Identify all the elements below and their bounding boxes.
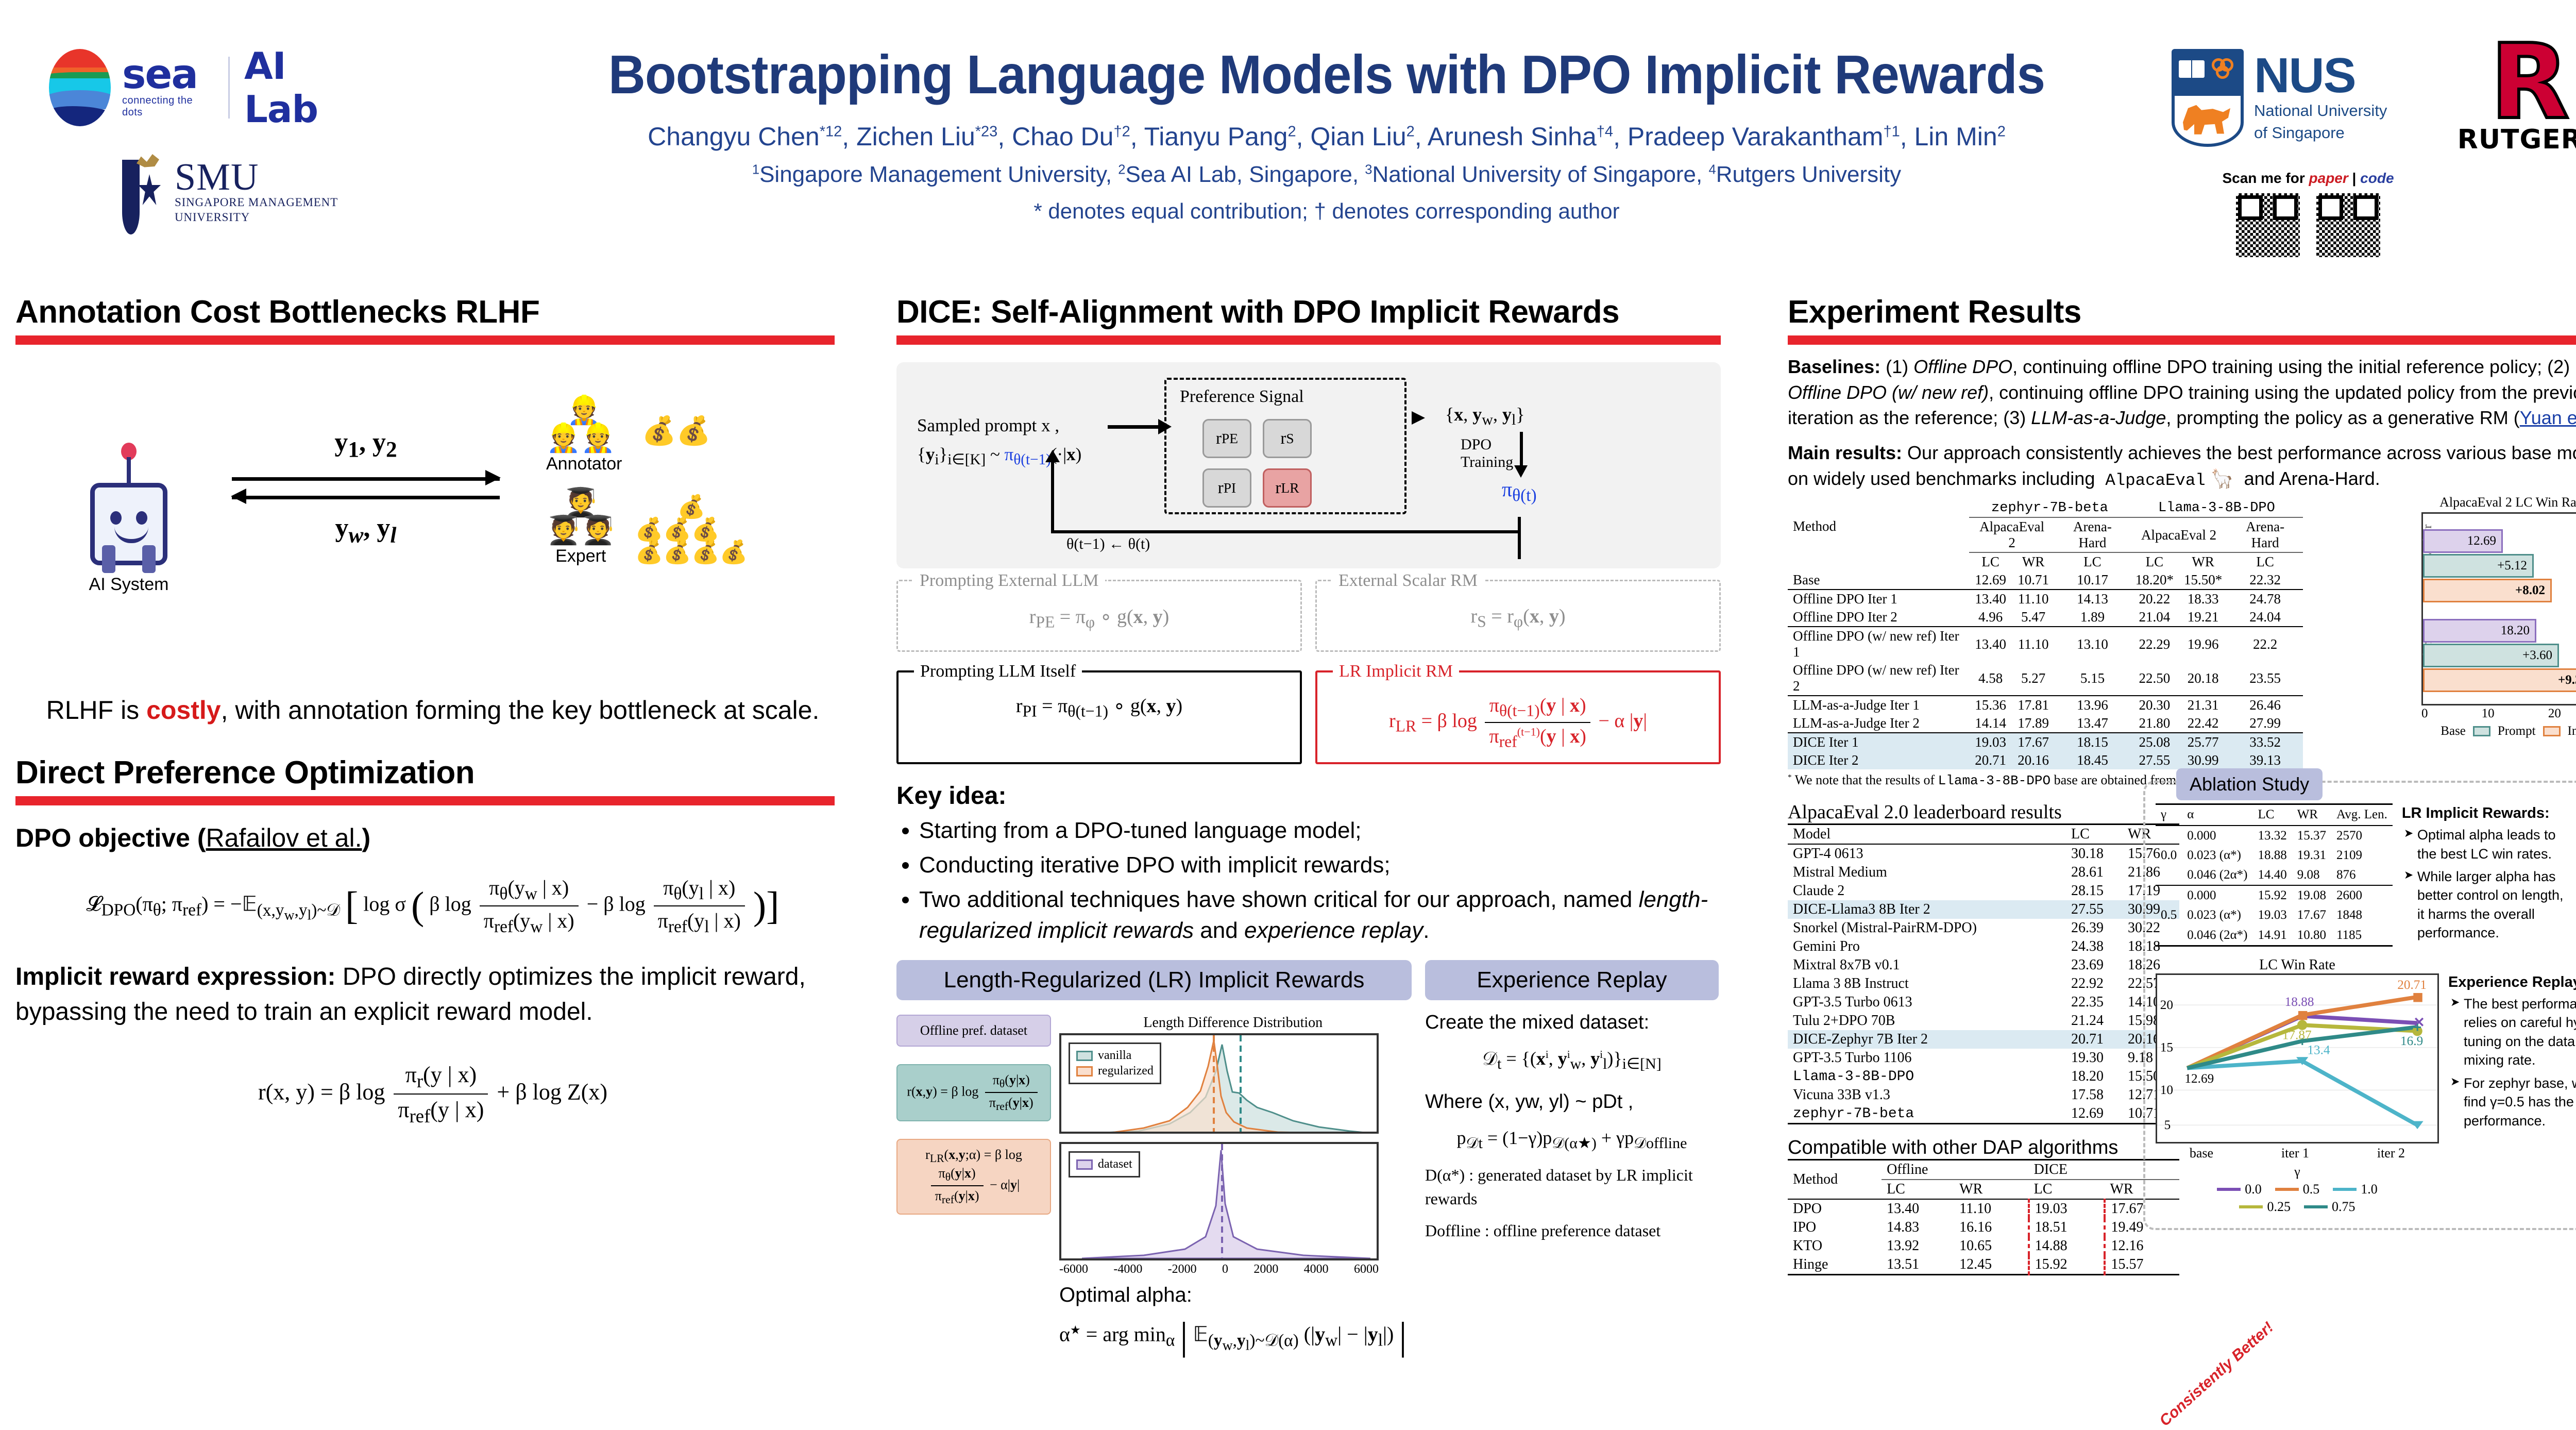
scan-me-block: Scan me for paper | code bbox=[2210, 170, 2406, 259]
cell-value: 23.55 bbox=[2227, 661, 2303, 696]
cell-model: GPT-4 0613 bbox=[1788, 844, 2066, 863]
cell-value: 22.42 bbox=[2179, 714, 2227, 733]
table-row: Offline DPO Iter 113.4011.1014.1320.2218… bbox=[1788, 590, 2303, 608]
flow-output-set: {x, yw, yl} bbox=[1445, 403, 1537, 429]
cell-value: 18.20 bbox=[2066, 1067, 2123, 1086]
table-header-row: Model LC WR bbox=[1788, 825, 2179, 845]
legend-label: 0.75 bbox=[2332, 1199, 2355, 1215]
cell-value: 21.80 bbox=[2130, 714, 2179, 733]
arrow-top-formula: y1, y2 bbox=[232, 427, 500, 462]
sea-wordmark: sea connecting the dots bbox=[122, 57, 214, 119]
cell-value: 18.51 bbox=[2029, 1218, 2105, 1237]
line-chart-x-axis: base iter 1 iter 2 bbox=[2156, 1146, 2439, 1161]
optimal-alpha-block: Optimal alpha: α★ = arg minα | 𝔼(yw,yl)~… bbox=[1059, 1284, 1407, 1359]
x-tick: 0 bbox=[1222, 1263, 1228, 1276]
section-title-dice: DICE: Self-Alignment with DPO Implicit R… bbox=[896, 296, 1721, 328]
optimal-alpha-equation: α★ = arg minα | 𝔼(yw,yl)~𝒟(α) (|yw| − |y… bbox=[1059, 1314, 1407, 1359]
qr-code-code[interactable] bbox=[2315, 192, 2382, 259]
list-item: The best performance relies on careful h… bbox=[2450, 995, 2576, 1070]
bar-llama-base: 18.20 bbox=[2423, 619, 2536, 643]
table-row: DPO13.4011.1019.0317.67 bbox=[1788, 1199, 2179, 1218]
cell-method: Offline DPO (w/ new ref) Iter 1 bbox=[1788, 627, 1969, 661]
legend-label: 0.0 bbox=[2245, 1182, 2262, 1197]
cell-method: Offline DPO Iter 1 bbox=[1788, 590, 1969, 608]
cell-lc: 14.91 bbox=[2253, 925, 2292, 946]
worker-icon: 👷 bbox=[567, 395, 601, 426]
cell-alpha: 0.000 bbox=[2182, 826, 2252, 846]
lr-implicit-rewards-header: Length-Regularized (LR) Implicit Rewards bbox=[896, 960, 1412, 1000]
money-bag-icon: 💰💰 bbox=[641, 415, 710, 446]
nus-logo: NUS National University of Singapore bbox=[2172, 49, 2387, 147]
reward-chip-pi[interactable]: rPI bbox=[1202, 468, 1251, 508]
money-bag-icon: 💰💰💰 bbox=[635, 517, 720, 542]
rutgers-name: RUTGERS bbox=[2452, 124, 2576, 155]
col-header-metric: LC bbox=[2029, 1180, 2105, 1199]
table-row: GPT-3.5 Turbo 110619.309.18 bbox=[1788, 1049, 2179, 1067]
col-header-metric: WR bbox=[2179, 552, 2227, 571]
table-row: Hinge13.5112.4515.9215.57 bbox=[1788, 1255, 2179, 1275]
arrow-left-icon bbox=[232, 494, 500, 499]
cell-value: 18.33 bbox=[2179, 590, 2227, 608]
tag-implicit-reward: r(x,y) = β log πθ(y|x)πref(y|x) bbox=[896, 1064, 1051, 1121]
table-row: Offline DPO (w/ new ref) Iter 113.4011.1… bbox=[1788, 627, 2303, 661]
cell-value: 25.08 bbox=[2130, 733, 2179, 751]
cell-value: 22.50 bbox=[2130, 661, 2179, 696]
bar-llama-prompt: +3.60 bbox=[2423, 644, 2559, 667]
cell-value: 24.78 bbox=[2227, 590, 2303, 608]
cell-value: 27.99 bbox=[2227, 714, 2303, 733]
ai-lab-wordmark: AI Lab bbox=[244, 44, 368, 131]
prompting-llm-itself-box: Prompting LLM Itself rPI = πθ(t−1) ∘ g(x… bbox=[896, 670, 1302, 764]
x-tick: 20 bbox=[2548, 706, 2561, 721]
cell-value: 27.55 bbox=[2066, 900, 2123, 919]
loop-line-h bbox=[1051, 530, 1520, 533]
svg-text:+: + bbox=[2413, 1019, 2421, 1035]
group-header-llama: Llama-3-8B-DPO bbox=[2130, 499, 2303, 517]
cell-value: 22.29 bbox=[2130, 627, 2179, 661]
cell-value: 20.30 bbox=[2130, 696, 2179, 714]
cell-value: 19.96 bbox=[2179, 627, 2227, 661]
loop-line-v bbox=[1051, 460, 1054, 533]
cell-alpha: 0.023 (α*) bbox=[2182, 846, 2252, 865]
expert-label: Expert bbox=[546, 546, 616, 566]
table-row: 0.046 (2α*)14.9110.801185 bbox=[2156, 925, 2393, 946]
col-header-len: Avg. Len. bbox=[2331, 804, 2393, 826]
cell-model: Snorkel (Mistral-PairRM-DPO) bbox=[1788, 919, 2066, 937]
x-tick: iter 2 bbox=[2377, 1146, 2405, 1161]
lr-bullets-title: LR Implicit Rewards: bbox=[2402, 803, 2572, 823]
reward-chip-s[interactable]: rS bbox=[1263, 419, 1312, 458]
svg-text:15: 15 bbox=[2160, 1040, 2173, 1054]
cell-gamma bbox=[2156, 865, 2182, 885]
lr-body: Offline pref. dataset r(x,y) = β log πθ(… bbox=[896, 1008, 1412, 1359]
annotator-label: Annotator bbox=[546, 454, 622, 474]
cell-method: LLM-as-a-Judge Iter 2 bbox=[1788, 714, 1969, 733]
preference-signal-caption: Preference Signal bbox=[1180, 387, 1304, 407]
section-rule bbox=[1788, 335, 2576, 345]
cell-value: 24.38 bbox=[2066, 937, 2123, 956]
cell-value: 5.27 bbox=[2012, 661, 2055, 696]
cell-model: DICE-Zephyr 7B Iter 2 bbox=[1788, 1030, 2066, 1049]
line-chart-title: LC Win Rate bbox=[2156, 957, 2439, 973]
note-post: , with annotation forming the key bottle… bbox=[221, 696, 820, 725]
cell-value: 18.20* bbox=[2130, 571, 2179, 590]
cell-value: 10.71 bbox=[2012, 571, 2055, 590]
cell-model: Vicuna 33B v1.3 bbox=[1788, 1086, 2066, 1104]
x-tick: 2000 bbox=[1253, 1263, 1278, 1276]
svg-text:10: 10 bbox=[2160, 1083, 2173, 1097]
length-diff-histogram: vanilla regularized bbox=[1059, 1033, 1379, 1134]
cell-value: 17.89 bbox=[2012, 714, 2055, 733]
cell-wr: 19.31 bbox=[2292, 846, 2331, 865]
scan-paper-label: paper bbox=[2309, 170, 2348, 186]
cell-value: 18.45 bbox=[2055, 751, 2130, 769]
legend-label: 1.0 bbox=[2361, 1182, 2378, 1197]
sea-oval-icon bbox=[49, 49, 111, 126]
cell-len: 1848 bbox=[2331, 905, 2393, 925]
box-equation: rLR = β log πθ(t−1)(y | x)πref(t−1)(y | … bbox=[1324, 694, 1713, 751]
lr-charts: Length Difference Distribution vanilla r… bbox=[1059, 1015, 1407, 1359]
col-header-bench: AlpacaEval 2 bbox=[1969, 517, 2055, 552]
cell-value: 14.83 bbox=[1882, 1218, 1954, 1237]
table-header-group: zephyr-7B-beta Llama-3-8B-DPO bbox=[1788, 499, 2303, 517]
cell-value: 28.61 bbox=[2066, 863, 2123, 882]
box-equation: rS = rφ(x, y) bbox=[1323, 605, 1713, 631]
arrow-bottom-formula: yw, yl bbox=[232, 513, 500, 548]
cell-value: 28.15 bbox=[2066, 882, 2123, 900]
experience-replay-header: Experience Replay bbox=[1425, 960, 1719, 1000]
cell-value: 39.13 bbox=[2227, 751, 2303, 769]
tag-lr-reward: rLR(x,y;α) = β log πθ(y|x)πref(y|x) − α|… bbox=[896, 1139, 1051, 1215]
svg-text:18.88: 18.88 bbox=[2285, 995, 2314, 1009]
x-tick: base bbox=[2190, 1146, 2213, 1161]
consistently-better-annotation: Consistently Better! bbox=[2156, 1319, 2277, 1430]
table-row: Mistral Medium28.6121.86 bbox=[1788, 863, 2179, 882]
er-body: Create the mixed dataset: 𝒟t = {(xi, yiw… bbox=[1425, 1008, 1719, 1359]
cell-method: Base bbox=[1788, 571, 1969, 590]
x-tick: 6000 bbox=[1354, 1263, 1379, 1276]
cell-method: Hinge bbox=[1788, 1255, 1882, 1275]
cell-value: 26.39 bbox=[2066, 919, 2123, 937]
histogram-legend: vanilla regularized bbox=[1069, 1042, 1161, 1084]
cell-alpha: 0.000 bbox=[2182, 885, 2252, 905]
cell-len: 1185 bbox=[2331, 925, 2393, 946]
baselines-paragraph: Baselines: (1) Offline DPO, continuing o… bbox=[1788, 354, 2576, 431]
key-idea-block: Key idea: Starting from a DPO-tuned lang… bbox=[896, 782, 1721, 947]
main-results-label: Main results: bbox=[1788, 442, 1902, 463]
table-row: Claude 228.1517.19 bbox=[1788, 882, 2179, 900]
nus-abbr: NUS bbox=[2254, 54, 2387, 98]
cell-value: 18.15 bbox=[2055, 733, 2130, 751]
dice-flow-diagram: Sampled prompt x , {yi}i∈[K] ~ πθ(t−1)(·… bbox=[896, 362, 1721, 568]
er-note-offline: Doffline : offline preference dataset bbox=[1425, 1219, 1719, 1242]
table-row: LLM-as-a-Judge Iter 115.3617.8113.9620.3… bbox=[1788, 696, 2303, 714]
cell-value: 24.04 bbox=[2227, 608, 2303, 627]
sea-word: sea bbox=[122, 57, 214, 93]
ablation-study-panel: Ablation Study γ α LC WR Avg. Len. 0.000… bbox=[2143, 781, 2576, 1230]
sea-ai-lab-logo: sea connecting the dots AI Lab bbox=[49, 46, 368, 129]
column-middle: DICE: Self-Alignment with DPO Implicit R… bbox=[896, 296, 1721, 1359]
table-row: Mixtral 8x7B v0.123.6918.26 bbox=[1788, 956, 2179, 974]
lr-bullets-block: LR Implicit Rewards: Optimal alpha leads… bbox=[2402, 803, 2572, 947]
leaderboard-table: Model LC WR GPT-4 061330.1815.76Mistral … bbox=[1788, 823, 2179, 1124]
table-row: zephyr-7B-beta12.6910.71 bbox=[1788, 1104, 2179, 1124]
box-caption: External Scalar RM bbox=[1332, 571, 1484, 591]
lc-win-rate-chart: LC Win Rate bbox=[2156, 957, 2439, 1215]
box-caption: Prompting External LLM bbox=[913, 571, 1105, 591]
bar-zephyr-implicit: +8.02 bbox=[2423, 579, 2552, 602]
x-tick: -6000 bbox=[1059, 1263, 1088, 1276]
cell-value: 20.16 bbox=[2012, 751, 2055, 769]
col-header-alpha: α bbox=[2182, 804, 2252, 826]
technique-headers: Length-Regularized (LR) Implicit Rewards… bbox=[896, 960, 1721, 1000]
cell-value: 11.10 bbox=[1954, 1199, 2028, 1218]
cell-value: 15.92 bbox=[2029, 1255, 2105, 1275]
cell-lc: 18.88 bbox=[2253, 846, 2292, 865]
affiliation-list: 1Singapore Management University, 2Sea A… bbox=[489, 162, 2164, 188]
author-list: Changyu Chen*12, Zichen Liu*23, Chao Du†… bbox=[489, 122, 2164, 152]
box-caption: LR Implicit RM bbox=[1333, 662, 1459, 681]
cell-method: KTO bbox=[1788, 1237, 1882, 1255]
cell-method: Offline DPO Iter 2 bbox=[1788, 608, 1969, 627]
bar-llama-implicit: +9.35 bbox=[2423, 668, 2576, 692]
dpo-loss-formula: 𝓛DPO(πθ; πref) = −𝔼(x,yw,yl)~𝒟 [ log σ (… bbox=[15, 876, 850, 937]
scan-me-caption: Scan me for paper | code bbox=[2210, 170, 2406, 187]
section-rule bbox=[15, 796, 835, 805]
cell-value: 19.03 bbox=[2029, 1199, 2105, 1218]
table-row: KTO13.9210.6514.8812.16 bbox=[1788, 1237, 2179, 1255]
box-equation: rPE = πφ ∘ g(x, y) bbox=[904, 605, 1294, 632]
rafailov-citation[interactable]: Rafailov et al. bbox=[206, 823, 362, 852]
table-header-row: γ α LC WR Avg. Len. bbox=[2156, 804, 2393, 826]
section-title-annotation: Annotation Cost Bottlenecks RLHF bbox=[15, 296, 850, 328]
main-results-table: zephyr-7B-beta Llama-3-8B-DPO Method Alp… bbox=[1788, 499, 2303, 769]
table-row: 0.50.023 (α*)19.0317.671848 bbox=[2156, 905, 2393, 925]
cell-value: 20.71 bbox=[2066, 1030, 2123, 1049]
annotator-row: 👷 👷👷 Annotator 💰💰 bbox=[546, 396, 814, 474]
col-header-bench: Arena-Hard bbox=[2227, 517, 2303, 552]
cell-value: 13.40 bbox=[1969, 590, 2012, 608]
table-row: Snorkel (Mistral-PairRM-DPO)26.3930.22 bbox=[1788, 919, 2179, 937]
column-left: Annotation Cost Bottlenecks RLHF AI Syst… bbox=[15, 296, 850, 1150]
er-note-generated: D(α*) : generated dataset by LR implicit… bbox=[1425, 1163, 1719, 1211]
line-chart-svg: ✕ + + 12.69 18.88 20.71 17.87 13.4 16.9 … bbox=[2157, 975, 2437, 1140]
money-bag-icon: 💰💰💰💰 bbox=[635, 540, 748, 565]
paren-close: ) bbox=[362, 823, 370, 852]
yuan-citation[interactable]: Yuan et al. bbox=[2520, 407, 2576, 428]
dpo-objective-text: DPO objective ( bbox=[15, 823, 206, 852]
col-header-method: Method bbox=[1788, 1160, 1882, 1200]
cell-len: 2109 bbox=[2331, 846, 2393, 865]
cell-model: Mixtral 8x7B v0.1 bbox=[1788, 956, 2066, 974]
smu-line2: UNIVERSITY bbox=[175, 210, 338, 225]
cell-lc: 15.92 bbox=[2253, 885, 2292, 905]
cell-value: 5.15 bbox=[2055, 661, 2130, 696]
cell-lc: 14.40 bbox=[2253, 865, 2292, 885]
cell-alpha: 0.046 (2α*) bbox=[2182, 865, 2252, 885]
rlhf-cost-note: RLHF is costly, with annotation forming … bbox=[15, 692, 850, 728]
box-equation: rPI = πθ(t−1) ∘ g(x, y) bbox=[905, 694, 1294, 721]
er-where-label: Where (x, yw, yl) ~ pDt , bbox=[1425, 1088, 1719, 1116]
box-caption: Prompting LLM Itself bbox=[914, 662, 1082, 681]
cell-value: 14.88 bbox=[2029, 1237, 2105, 1255]
cell-value: 22.32 bbox=[2227, 571, 2303, 590]
cell-value: 22.92 bbox=[2066, 974, 2123, 993]
list-item: While larger alpha has better control on… bbox=[2404, 867, 2572, 943]
cell-gamma bbox=[2156, 885, 2182, 905]
cell-value: 14.13 bbox=[2055, 590, 2130, 608]
table-row: Gemini Pro24.3818.18 bbox=[1788, 937, 2179, 956]
flow-arrow-out-icon bbox=[1412, 411, 1425, 425]
cell-wr: 17.67 bbox=[2292, 905, 2331, 925]
reward-chip-lr[interactable]: rLR bbox=[1263, 468, 1312, 508]
cell-method: IPO bbox=[1788, 1218, 1882, 1237]
bar-zephyr-base: 12.69 bbox=[2423, 529, 2503, 553]
list-item: Starting from a DPO-tuned language model… bbox=[919, 815, 1721, 847]
svg-text:17.87: 17.87 bbox=[2282, 1028, 2312, 1042]
cell-value: 20.71 bbox=[1969, 751, 2012, 769]
cell-value: 12.69 bbox=[2066, 1104, 2123, 1124]
main-table-body: Base12.6910.7110.1718.20*15.50*22.32Offl… bbox=[1788, 571, 2303, 769]
cell-gamma bbox=[2156, 925, 2182, 946]
col-header-bench: Arena-Hard bbox=[2055, 517, 2130, 552]
cell-value: 11.10 bbox=[2012, 590, 2055, 608]
dap-body: DPO13.4011.1019.0317.67IPO14.8316.1618.5… bbox=[1788, 1199, 2179, 1275]
table-row: DICE Iter 220.7120.1618.4527.5530.9939.1… bbox=[1788, 751, 2303, 769]
sea-tagline: connecting the dots bbox=[122, 95, 214, 119]
cell-model: Llama 3 8B Instruct bbox=[1788, 974, 2066, 993]
annotators-group: 👷 👷👷 Annotator 💰💰 🧑‍🎓 🧑‍🎓🧑‍🎓 Expert 💰 bbox=[546, 396, 814, 581]
key-idea-title: Key idea: bbox=[896, 782, 1721, 810]
bar-zephyr-prompt: +5.12 bbox=[2423, 554, 2534, 578]
list-item: Two additional techniques have shown cri… bbox=[919, 884, 1721, 947]
table-row: DICE Iter 119.0317.6718.1525.0825.7733.5… bbox=[1788, 733, 2303, 751]
cell-value: 13.51 bbox=[1882, 1255, 1954, 1275]
dataset-histogram: dataset bbox=[1059, 1142, 1379, 1260]
group-header-zephyr: zephyr-7B-beta bbox=[1969, 499, 2130, 517]
main-results-paragraph: Main results: Our approach consistently … bbox=[1788, 440, 2576, 492]
table-row: 0.00015.9219.082600 bbox=[2156, 885, 2393, 905]
bar-chart-title: AlpacaEval 2 LC Win Rate (%) bbox=[2421, 495, 2576, 510]
legend-label: 0.5 bbox=[2303, 1182, 2320, 1197]
cell-value: 5.47 bbox=[2012, 608, 2055, 627]
cell-value: 21.24 bbox=[2066, 1012, 2123, 1030]
implicit-reward-formula: r(x, y) = β log πr(y | x)πref(y | x) + β… bbox=[15, 1062, 850, 1127]
cell-value: 21.31 bbox=[2179, 696, 2227, 714]
cell-value: 4.58 bbox=[1969, 661, 2012, 696]
svg-text:12.69: 12.69 bbox=[2184, 1071, 2214, 1086]
svg-text:16.9: 16.9 bbox=[2400, 1034, 2423, 1048]
list-item: Optimal alpha leads to the best LC win r… bbox=[2404, 826, 2572, 863]
reward-chip-pe[interactable]: rPE bbox=[1202, 419, 1251, 458]
title-block: Bootstrapping Language Models with DPO I… bbox=[489, 44, 2164, 224]
cell-value: 23.69 bbox=[2066, 956, 2123, 974]
legend-swatch bbox=[2543, 726, 2561, 736]
money-bag-icon: 💰 bbox=[677, 494, 706, 519]
legend-label: Base bbox=[2441, 724, 2466, 738]
er-bullets-block: Experience Replay: The best performance … bbox=[2448, 957, 2576, 1215]
table-header-bench: Method AlpacaEval 2 Arena-Hard AlpacaEva… bbox=[1788, 517, 2303, 552]
cell-method: Offline DPO (w/ new ref) Iter 2 bbox=[1788, 661, 1969, 696]
bar-chart-legend: Base Prompt Implicit bbox=[2421, 724, 2576, 738]
worker-icon: 👷 bbox=[581, 423, 615, 453]
cell-method: DICE Iter 1 bbox=[1788, 733, 1969, 751]
worker-icon: 👷 bbox=[546, 423, 581, 453]
col-header-bench: AlpacaEval 2 bbox=[2130, 517, 2228, 552]
cell-model: Llama-3-8B-DPO bbox=[1788, 1067, 2066, 1086]
x-tick: 0 bbox=[2421, 706, 2428, 721]
col-header-metric: LC bbox=[2227, 552, 2303, 571]
nus-line2: of Singapore bbox=[2254, 123, 2387, 142]
cell-model: GPT-3.5 Turbo 1106 bbox=[1788, 1049, 2066, 1067]
cell-method: DPO bbox=[1788, 1199, 1882, 1218]
legend-label: dataset bbox=[1098, 1157, 1132, 1171]
col-header-metric: LC bbox=[1969, 552, 2012, 571]
loop-line-v2 bbox=[1518, 517, 1521, 559]
cell-value: 30.18 bbox=[2066, 844, 2123, 863]
note-pre: RLHF is bbox=[46, 696, 146, 725]
dpo-objective-label: DPO objective (Rafailov et al.) bbox=[15, 823, 850, 853]
er-create-label: Create the mixed dataset: bbox=[1425, 1008, 1719, 1037]
ablation-header: Ablation Study bbox=[2176, 768, 2323, 800]
cell-value: 15.50* bbox=[2179, 571, 2227, 590]
er-dataset-equation: 𝒟t = {(xi, yiw, yil)}i∈[N] bbox=[1425, 1045, 1719, 1075]
cell-alpha: 0.023 (α*) bbox=[2182, 905, 2252, 925]
scan-code-label: code bbox=[2360, 170, 2394, 186]
list-item: Conducting iterative DPO with implicit r… bbox=[919, 850, 1721, 881]
ai-system-label: AI System bbox=[77, 575, 180, 595]
cell-value: 4.96 bbox=[1969, 608, 2012, 627]
alpacaeval-bar-chart: AlpacaEval 2 LC Win Rate (%) Zephyr Llam… bbox=[2421, 495, 2576, 738]
ablation-body: 0.00013.3215.3725700.00.023 (α*)18.8819.… bbox=[2156, 826, 2393, 946]
cell-value: 13.96 bbox=[2055, 696, 2130, 714]
graduate-icon: 🧑‍🎓 bbox=[564, 487, 598, 518]
line-chart-legend: γ 0.0 0.5 1.0 0.25 0.75 bbox=[2156, 1164, 2439, 1215]
cell-value: 16.16 bbox=[1954, 1218, 2028, 1237]
cell-model: zephyr-7B-beta bbox=[1788, 1104, 2066, 1124]
table-row: GPT-4 061330.1815.76 bbox=[1788, 844, 2179, 863]
contribution-note: * denotes equal contribution; † denotes … bbox=[489, 199, 2164, 224]
cell-model: Mistral Medium bbox=[1788, 863, 2066, 882]
table-row: DICE-Llama3 8B Iter 227.5530.99 bbox=[1788, 900, 2179, 919]
cell-value: 17.81 bbox=[2012, 696, 2055, 714]
x-tick: -2000 bbox=[1168, 1263, 1197, 1276]
exchange-arrows: y1, y2 yw, yl bbox=[232, 427, 500, 548]
smu-line1: SINGAPORE MANAGEMENT bbox=[175, 195, 338, 210]
col-header-metric: LC bbox=[1882, 1180, 1954, 1199]
cell-value: 19.21 bbox=[2179, 608, 2227, 627]
table-row: Vicuna 33B v1.317.5812.71 bbox=[1788, 1086, 2179, 1104]
qr-code-paper[interactable] bbox=[2234, 192, 2301, 259]
legend-label: regularized bbox=[1098, 1064, 1154, 1078]
length-diff-chart-title: Length Difference Distribution bbox=[1059, 1015, 1407, 1031]
cell-value: 12.69 bbox=[1969, 571, 2012, 590]
policy-t-label: πθ(t) bbox=[1502, 477, 1537, 506]
llama-icon: 🦙 bbox=[2211, 468, 2234, 489]
arrow-right-icon bbox=[232, 476, 500, 481]
nus-shield-icon bbox=[2172, 49, 2244, 147]
sampled-prompt-text: Sampled prompt x , bbox=[917, 411, 1081, 440]
reward-source-row-2: Prompting LLM Itself rPI = πθ(t−1) ∘ g(x… bbox=[896, 670, 1721, 764]
col-header-metric: WR bbox=[2012, 552, 2055, 571]
cell-value: 13.92 bbox=[1882, 1237, 1954, 1255]
cell-value: 15.36 bbox=[1969, 696, 2012, 714]
cell-method: DICE Iter 2 bbox=[1788, 751, 1969, 769]
dap-table: Method Offline DICE LC WR LC WR DPO13.40… bbox=[1788, 1159, 2179, 1275]
poster-root: sea connecting the dots AI Lab SMU SINGA… bbox=[0, 0, 2576, 1292]
col-header-model: Model bbox=[1788, 825, 2066, 845]
smu-abbr: SMU bbox=[175, 159, 338, 195]
